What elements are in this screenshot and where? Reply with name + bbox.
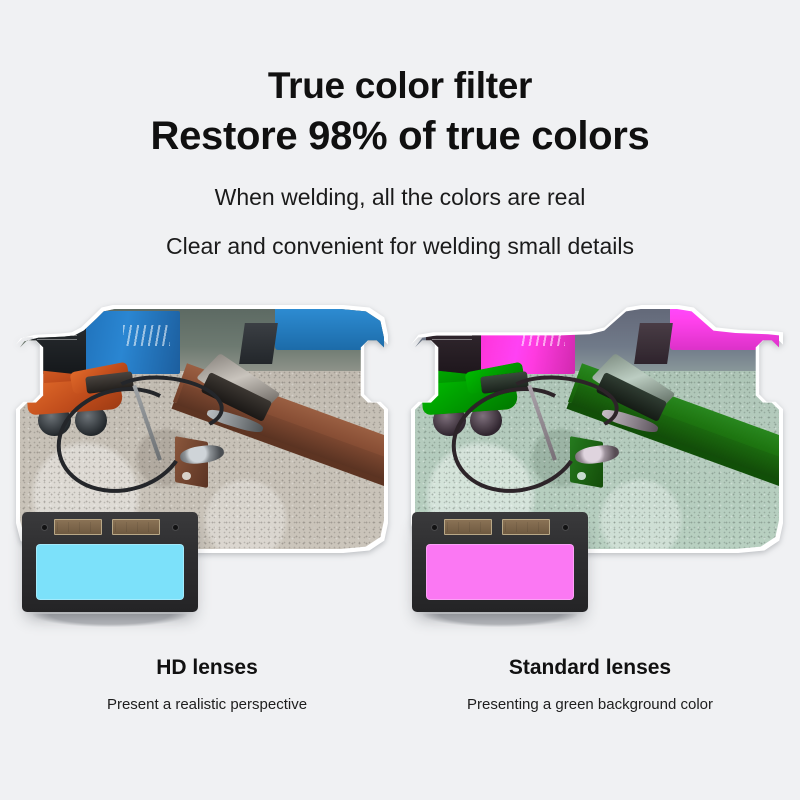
solar-cell-strip-1 [444, 519, 492, 535]
arc-sensor-dot-left [42, 525, 47, 530]
solar-cell-strip-1 [54, 519, 102, 535]
arc-sensor-dot-right [173, 525, 178, 530]
solar-cell-strip-2 [502, 519, 550, 535]
standard-lens-caption: Standard lenses Presenting a green backg… [420, 655, 760, 715]
page-title-line2: Restore 98% of true colors [0, 112, 800, 160]
hd-lens-caption-sub: Present a realistic perspective [37, 695, 377, 715]
hd-lens-caption-title: HD lenses [37, 655, 377, 681]
arc-sensor-dot-left [432, 525, 437, 530]
hd-lens-window [36, 544, 184, 600]
standard-lens-window [426, 544, 574, 600]
beam-bolt-hole-2 [369, 369, 378, 377]
subtitle-line1: When welding, all the colors are real [0, 182, 800, 212]
subtitle-line2: Clear and convenient for welding small d… [0, 231, 800, 261]
header: True color filter Restore 98% of true co… [0, 0, 800, 261]
blue-container [275, 309, 384, 350]
standard-lens-caption-sub: Presenting a green background color [420, 695, 760, 715]
beam-bolt-hole-2 [764, 369, 773, 377]
standard-lens-cartridge [412, 512, 588, 612]
standard-lens-caption-title: Standard lenses [420, 655, 760, 681]
container-leg [239, 323, 277, 364]
beam-bolt-hole-1 [182, 472, 191, 480]
hd-lens-cartridge [22, 512, 198, 612]
beam-bolt-hole-1 [577, 472, 586, 480]
hd-lens-caption: HD lenses Present a realistic perspectiv… [37, 655, 377, 715]
container-leg [634, 323, 672, 364]
welding-machine [473, 311, 575, 373]
solar-cell-strip-2 [112, 519, 160, 535]
arc-sensor-dot-right [563, 525, 568, 530]
page-title-line1: True color filter [0, 62, 800, 110]
